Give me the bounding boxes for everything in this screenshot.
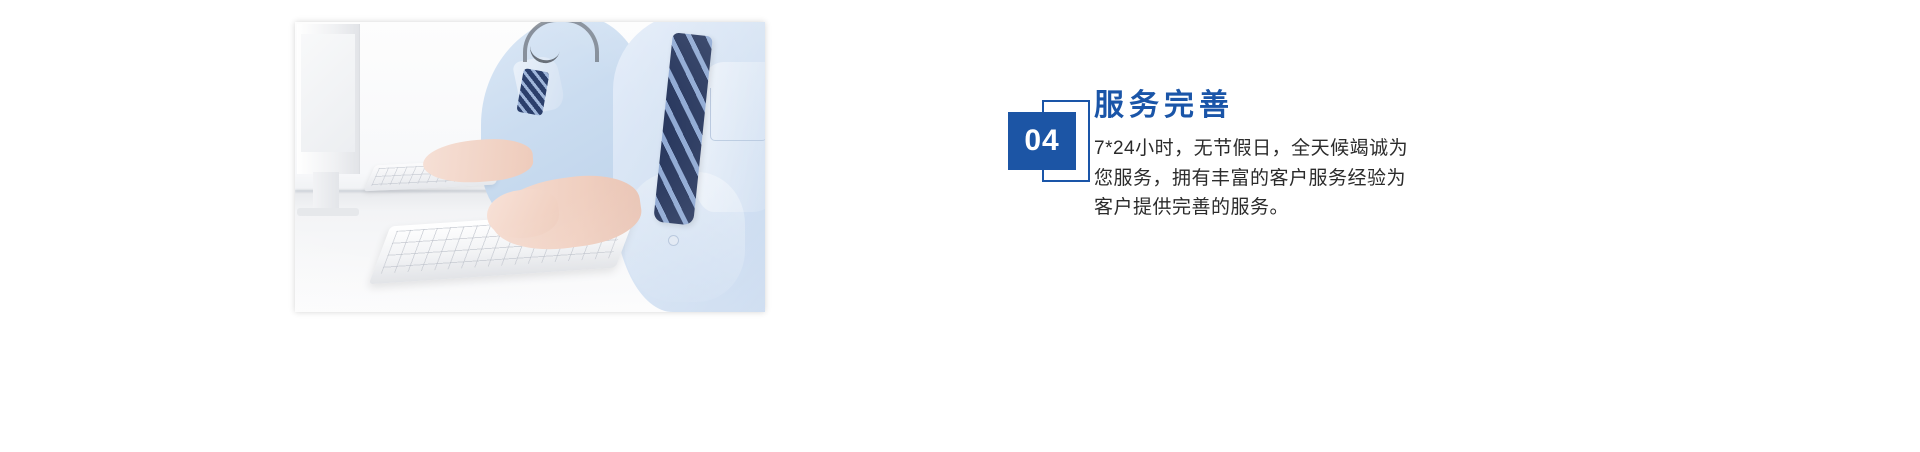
feature-text-column: 服务完善 7*24小时，无节假日，全天候竭诚为 您服务，拥有丰富的客户服务经验为… <box>1094 88 1514 223</box>
feature-photo <box>295 22 765 312</box>
feature-description-line-3: 客户提供完善的服务。 <box>1094 193 1514 223</box>
photo-vignette <box>295 22 765 312</box>
feature-title: 服务完善 <box>1094 88 1514 124</box>
service-feature-banner: 04 服务完善 7*24小时，无节假日，全天候竭诚为 您服务，拥有丰富的客户服务… <box>0 0 1920 452</box>
badge-number: 04 <box>1008 112 1076 170</box>
photo-canvas <box>295 22 765 312</box>
feature-number-badge: 04 <box>1008 112 1080 170</box>
feature-description-line-2: 您服务，拥有丰富的客户服务经验为 <box>1094 164 1514 194</box>
feature-description: 7*24小时，无节假日，全天候竭诚为 您服务，拥有丰富的客户服务经验为 客户提供… <box>1094 134 1514 223</box>
feature-description-line-1: 7*24小时，无节假日，全天候竭诚为 <box>1094 134 1514 164</box>
